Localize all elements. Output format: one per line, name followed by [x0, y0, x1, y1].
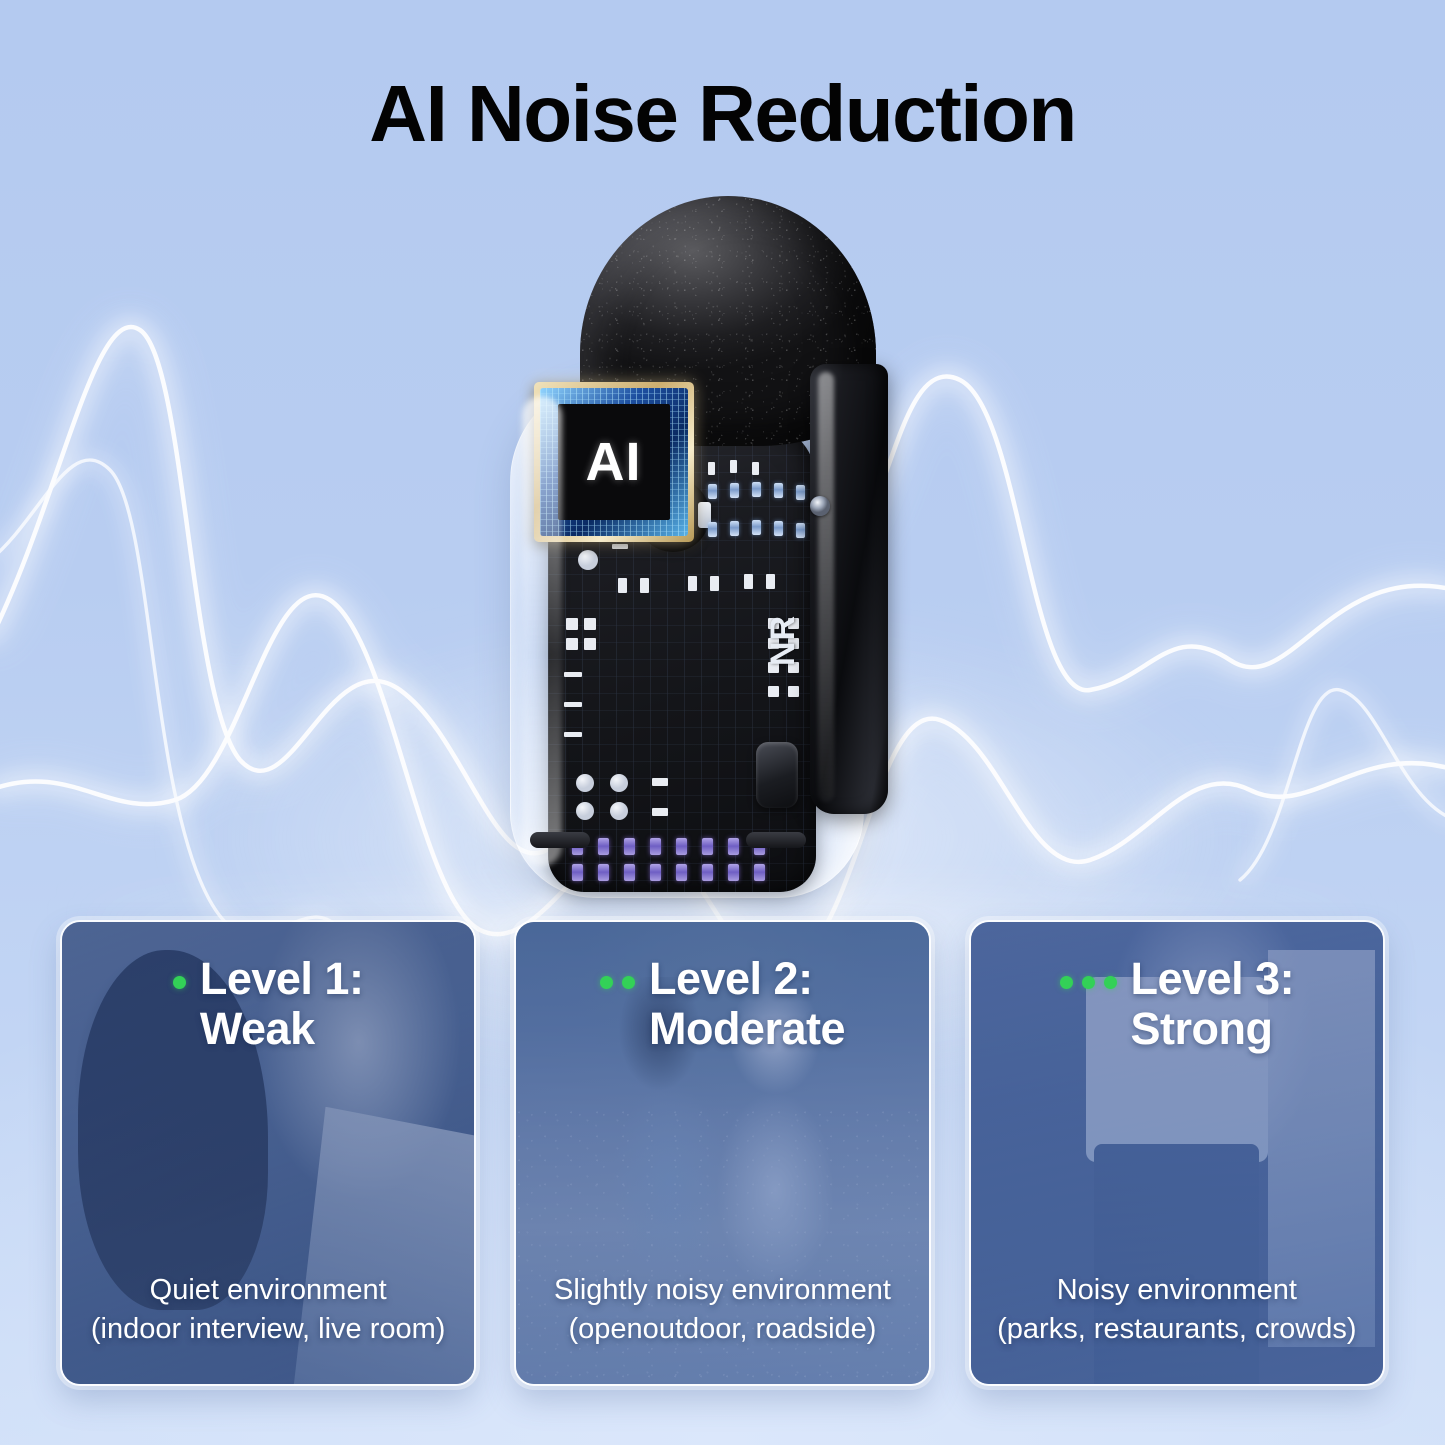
level-title: Level 3:Strong	[1131, 954, 1295, 1055]
marketing-banner: AI Noise Reduction	[0, 0, 1445, 1445]
level-dot	[1082, 976, 1095, 989]
level-dot	[173, 976, 186, 989]
level-title-row: Level 3:Strong	[989, 954, 1365, 1055]
level-dots	[173, 954, 186, 989]
level-card-2[interactable]: Level 2:Moderate Slightly noisy environm…	[514, 920, 930, 1386]
nr-button[interactable]	[756, 742, 798, 808]
nr-label: NR	[764, 615, 803, 666]
product-image: AI NR	[488, 196, 958, 956]
chip-die: AI	[540, 388, 688, 536]
level-description: Noisy environment(parks, restaurants, cr…	[987, 1271, 1367, 1348]
levels-row: Level 1:Weak Quiet environment(indoor in…	[60, 920, 1385, 1386]
level-description: Slightly noisy environment(openoutdoor, …	[532, 1271, 912, 1348]
level-title-row: Level 1:Weak	[80, 954, 456, 1055]
level-dot	[622, 976, 635, 989]
clip-highlight	[818, 372, 834, 802]
level-dots	[1060, 954, 1117, 989]
chip-label: AI	[586, 435, 642, 489]
page-title: AI Noise Reduction	[0, 72, 1445, 157]
ai-chip: AI	[534, 382, 694, 542]
level-title: Level 2:Moderate	[649, 954, 845, 1055]
level-description: Quiet environment(indoor interview, live…	[78, 1271, 458, 1348]
chip-core: AI	[558, 404, 670, 520]
level-title: Level 1:Weak	[200, 954, 364, 1055]
level-dot	[1060, 976, 1073, 989]
level-dot	[600, 976, 613, 989]
level-dots	[600, 954, 635, 989]
level-dot	[1104, 976, 1117, 989]
screw-icon	[810, 496, 830, 516]
level-card-3[interactable]: Level 3:Strong Noisy environment(parks, …	[969, 920, 1385, 1386]
level-card-1[interactable]: Level 1:Weak Quiet environment(indoor in…	[60, 920, 476, 1386]
level-title-row: Level 2:Moderate	[534, 954, 910, 1055]
